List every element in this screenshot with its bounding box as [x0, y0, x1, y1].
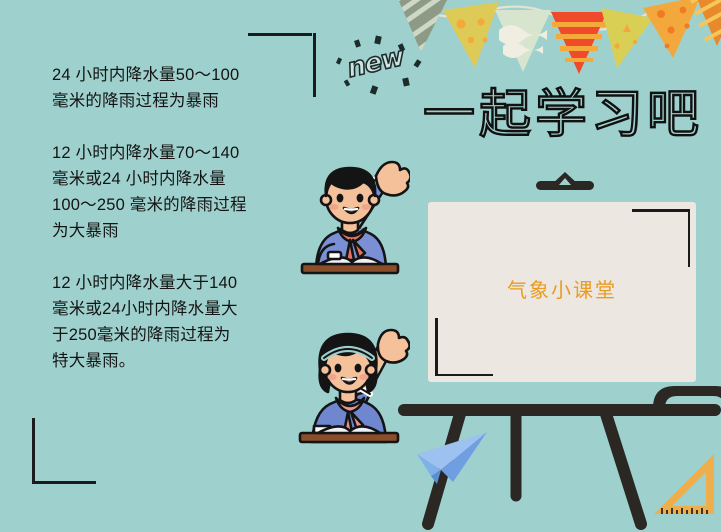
whiteboard-corner-bottom-left — [435, 316, 495, 376]
sparkle-dot — [402, 77, 410, 86]
whiteboard: 气象小课堂 — [428, 202, 696, 382]
whiteboard-corner-top-right — [630, 209, 690, 269]
triangle-ruler-icon — [648, 452, 721, 524]
bracket-line-horizontal — [248, 33, 312, 36]
new-badge: new — [333, 34, 428, 98]
definition-text-column: 24 小时内降水量50〜100 毫米的降雨过程为暴雨 12 小时内降水量70〜1… — [52, 62, 317, 374]
bunting-decoration — [395, 0, 721, 74]
bracket-line-horizontal — [435, 374, 493, 377]
new-badge-label: new — [344, 42, 406, 84]
whiteboard-clip-icon — [536, 172, 594, 190]
bracket-line-horizontal — [632, 209, 690, 212]
bracket-line-horizontal — [32, 481, 96, 484]
poster-canvas: new 一起学习吧 24 小时内降水量50〜100 毫米的降雨过程为暴雨 12 … — [0, 0, 721, 532]
whiteboard-title: 气象小课堂 — [428, 274, 696, 303]
sparkle-dot — [336, 57, 342, 64]
sparkle-dot — [354, 39, 361, 47]
sparkle-dot — [413, 59, 421, 68]
bracket-line-vertical — [32, 418, 35, 482]
definition-paragraph-rainstorm: 24 小时内降水量50〜100 毫米的降雨过程为暴雨 — [52, 62, 317, 114]
sparkle-dot — [370, 85, 378, 95]
page-title: 一起学习吧 — [423, 84, 703, 146]
illustration-boy-raising-hand — [288, 152, 410, 276]
definition-paragraph-heavy-rainstorm: 12 小时内降水量70〜140 毫米或24 小时内降水量 100〜250 毫米的… — [52, 140, 317, 244]
illustration-girl-raising-hand — [288, 314, 410, 444]
paper-plane-icon — [415, 430, 505, 492]
corner-bracket-bottom-left — [32, 418, 98, 484]
sparkle-dot — [374, 35, 382, 44]
definition-paragraph-extreme-rainstorm: 12 小时内降水量大于140 毫米或24小时内降水量大 于250毫米的降雨过程为… — [52, 270, 317, 374]
bracket-line-vertical — [688, 209, 691, 267]
sparkle-dot — [344, 79, 350, 86]
bracket-line-vertical — [435, 318, 438, 376]
